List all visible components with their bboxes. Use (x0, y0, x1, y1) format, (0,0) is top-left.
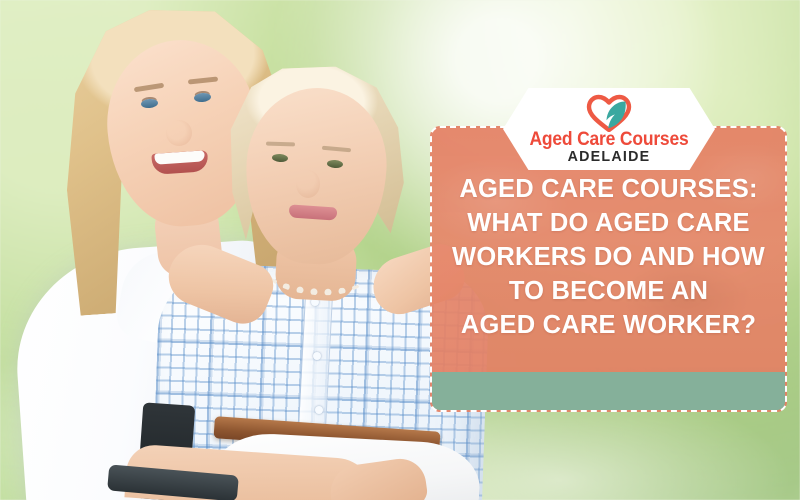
headline-line-4: TO BECOME AN (442, 274, 775, 308)
logo-subtitle: ADELAIDE (508, 148, 709, 165)
senior-nose (296, 170, 320, 198)
headline-line-2: WHAT DO AGED CARE (442, 206, 775, 240)
brand-logo-banner[interactable]: Aged Care Courses ADELAIDE (503, 88, 715, 170)
heart-hand-icon (586, 94, 632, 132)
accent-bar (432, 372, 785, 410)
headline-line-5: AGED CARE WORKER? (442, 308, 775, 342)
headline-line-1: AGED CARE COURSES: (442, 172, 775, 206)
carer-teeth (154, 150, 205, 164)
promo-headline: AGED CARE COURSES: WHAT DO AGED CARE WOR… (432, 172, 785, 342)
headline-line-3: WORKERS DO AND HOW (442, 240, 775, 274)
senior-shirt-button (315, 406, 323, 414)
carer-nose (166, 120, 192, 146)
promo-banner-image: AGED CARE COURSES: WHAT DO AGED CARE WOR… (0, 0, 800, 500)
senior-shirt-button (313, 352, 321, 360)
